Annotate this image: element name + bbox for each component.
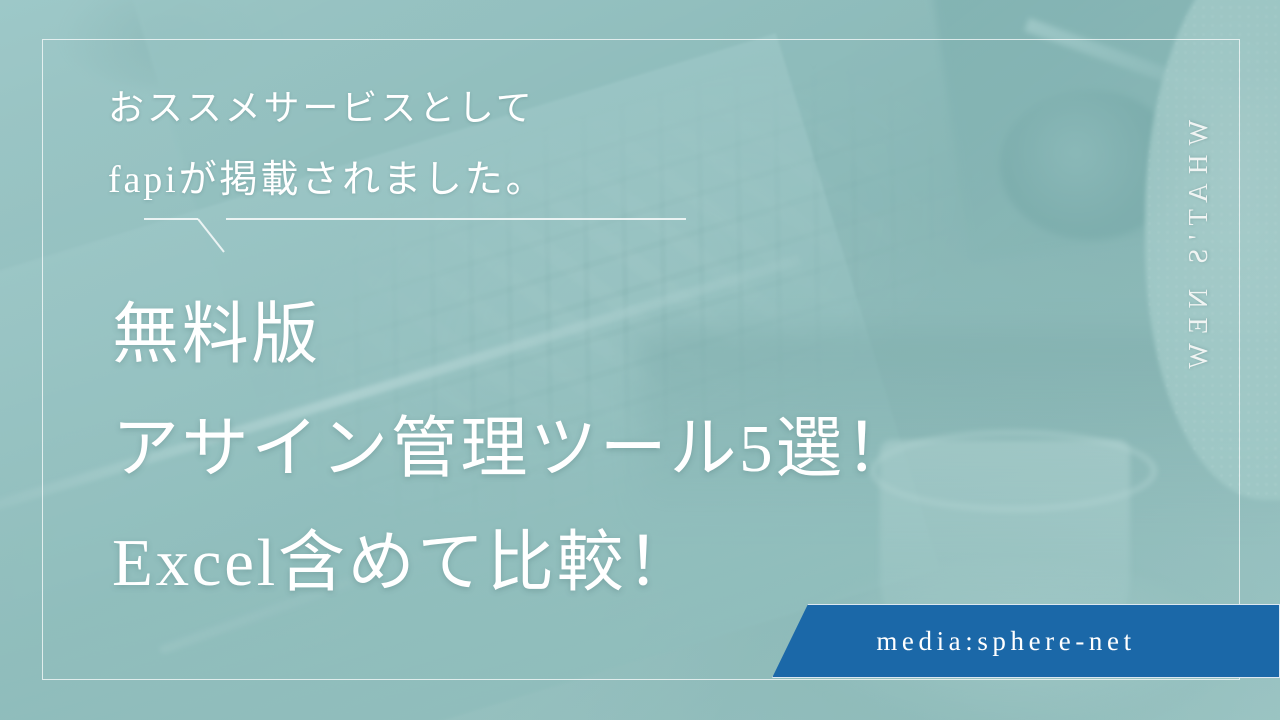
site-brand-badge[interactable]: media:sphere-net <box>772 604 1280 678</box>
divider-shape <box>140 214 690 260</box>
eyebrow-text: おススメサービスとして fapiが掲載されました。 <box>108 72 808 216</box>
decorative-divider <box>140 214 690 260</box>
banner-canvas: おススメサービスとして fapiが掲載されました。 無料版 アサイン管理ツール5… <box>0 0 1280 720</box>
eyebrow-line-2: fapiが掲載されました。 <box>108 144 808 216</box>
headline-line-1: 無料版 <box>112 278 1072 392</box>
headline-line-3: Excel含めて比較！ <box>112 506 1072 620</box>
headline-line-2: アサイン管理ツール5選！ <box>112 392 1072 506</box>
headline-text: 無料版 アサイン管理ツール5選！ Excel含めて比較！ <box>112 278 1072 620</box>
vertical-section-label: WHAT'S NEW <box>1183 120 1214 378</box>
eyebrow-line-1: おススメサービスとして <box>108 72 808 144</box>
badge-label: media:sphere-net <box>772 604 1280 678</box>
